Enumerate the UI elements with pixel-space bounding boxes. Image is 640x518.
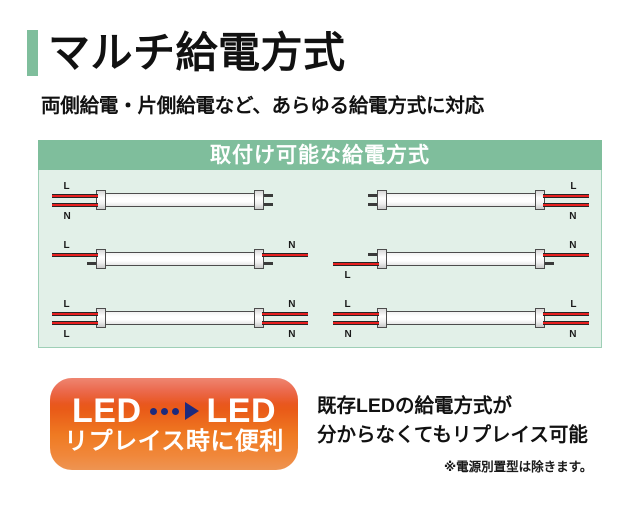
wire-label-left-top: L xyxy=(64,182,70,192)
tube-diagram-grid: LNLNLNLNLLNNLNLN xyxy=(39,170,601,347)
badge-caption: リプレイス時に便利 xyxy=(64,430,284,454)
tube-diagram-double-ended-right-feed: LN xyxy=(320,170,601,229)
power-wire-right-bottom xyxy=(262,321,308,325)
wire-label-left-bottom: N xyxy=(64,212,71,222)
tube-body xyxy=(383,311,539,325)
wire-label-right-top: N xyxy=(288,300,295,310)
wire-label-left-top: L xyxy=(64,300,70,310)
power-wire-left-top xyxy=(333,312,379,316)
tube-body xyxy=(383,252,539,266)
arrow-triangle xyxy=(185,402,199,420)
power-wire-left-bottom xyxy=(333,262,379,266)
arrow-dot xyxy=(172,408,179,415)
tube-body xyxy=(102,311,258,325)
power-wire-right-top xyxy=(262,312,308,316)
tube-body xyxy=(383,193,539,207)
wire-label-right-top: N xyxy=(288,241,295,251)
tube-endcap-right xyxy=(254,308,264,328)
led-tube-icon: LNLN xyxy=(361,297,561,339)
wire-label-right-bottom: N xyxy=(288,330,295,340)
wire-label-left-top: L xyxy=(64,241,70,251)
tube-endcap-right xyxy=(535,190,545,210)
feed-method-panel: 取付け可能な給電方式 LNLNLNLNLLNNLNLN xyxy=(38,140,602,348)
tube-pin-left-top xyxy=(368,194,377,197)
led-replace-badge: LED LED リプレイス時に便利 xyxy=(50,378,298,470)
wire-label-right-top: N xyxy=(569,241,576,251)
power-wire-right-bottom xyxy=(543,203,589,207)
panel-header: 取付け可能な給電方式 xyxy=(38,140,602,170)
tube-endcap-left xyxy=(96,249,106,269)
tube-pin-right-bottom xyxy=(264,262,273,265)
title-accent-bar xyxy=(27,30,38,76)
power-wire-right-top xyxy=(262,253,308,257)
note-line-1: 既存LEDの給電方式が xyxy=(317,392,588,421)
panel-header-label: 取付け可能な給電方式 xyxy=(210,145,430,166)
tube-endcap-right xyxy=(254,249,264,269)
power-wire-right-top xyxy=(543,253,589,257)
power-wire-left-top xyxy=(52,312,98,316)
wire-label-left-top: L xyxy=(345,300,351,310)
tube-pin-right-top xyxy=(264,194,273,197)
tube-endcap-right xyxy=(535,308,545,328)
power-wire-right-top xyxy=(543,194,589,198)
led-tube-icon: LN xyxy=(361,179,561,221)
panel-body: LNLNLNLNLLNNLNLN xyxy=(38,170,602,348)
dotted-arrow-right-icon xyxy=(150,402,199,420)
title-text: マルチ給電方式 xyxy=(48,32,346,74)
tube-pin-right-bottom xyxy=(264,203,273,206)
tube-pin-right-bottom xyxy=(545,262,554,265)
tube-endcap-left xyxy=(96,190,106,210)
tube-diagram-single-ended-L-bottom-N-top: LN xyxy=(320,229,601,288)
led-tube-icon: LLNN xyxy=(80,297,280,339)
tube-pin-left-top xyxy=(368,253,377,256)
power-wire-left-bottom xyxy=(52,321,98,325)
wire-label-left-bottom: N xyxy=(345,330,352,340)
arrow-dot xyxy=(161,408,168,415)
power-wire-right-bottom xyxy=(543,321,589,325)
tube-diagram-single-ended-L-top-N-top: LN xyxy=(39,229,320,288)
led-tube-icon: LN xyxy=(80,238,280,280)
badge-led-right: LED xyxy=(207,394,277,428)
tube-endcap-left xyxy=(377,249,387,269)
wire-label-right-top: L xyxy=(570,182,576,192)
power-wire-left-top xyxy=(52,194,98,198)
tube-endcap-right xyxy=(535,249,545,269)
power-wire-left-bottom xyxy=(333,321,379,325)
badge-headline: LED LED xyxy=(72,394,276,428)
tube-diagram-both-ends-LL-NN: LLNN xyxy=(39,288,320,347)
tube-body xyxy=(102,193,258,207)
tube-endcap-left xyxy=(96,308,106,328)
power-wire-left-top xyxy=(52,253,98,257)
wire-label-right-top: L xyxy=(570,300,576,310)
subtitle-text: 両側給電・片側給電など、あらゆる給電方式に対応 xyxy=(41,89,484,118)
tube-endcap-right xyxy=(254,190,264,210)
tube-endcap-left xyxy=(377,190,387,210)
badge-led-left: LED xyxy=(72,394,142,428)
footnote-text: ※電源別置型は除きます。 xyxy=(444,456,592,475)
tube-pin-left-bottom xyxy=(368,203,377,206)
tube-pin-left-bottom xyxy=(87,262,96,265)
led-tube-icon: LN xyxy=(80,179,280,221)
page-title: マルチ給電方式 xyxy=(27,30,346,76)
power-wire-right-top xyxy=(543,312,589,316)
tube-body xyxy=(102,252,258,266)
arrow-dot xyxy=(150,408,157,415)
note-line-2: 分からなくてもリプレイス可能 xyxy=(317,421,588,450)
tube-diagram-both-ends-LN-LN: LNLN xyxy=(320,288,601,347)
tube-endcap-left xyxy=(377,308,387,328)
wire-label-left-bottom: L xyxy=(345,271,351,281)
wire-label-right-bottom: N xyxy=(569,212,576,222)
note-text: 既存LEDの給電方式が 分からなくてもリプレイス可能 xyxy=(317,392,588,451)
led-tube-icon: LN xyxy=(361,238,561,280)
tube-diagram-double-ended-left-feed: LN xyxy=(39,170,320,229)
wire-label-left-bottom: L xyxy=(64,330,70,340)
wire-label-right-bottom: N xyxy=(569,330,576,340)
power-wire-left-bottom xyxy=(52,203,98,207)
